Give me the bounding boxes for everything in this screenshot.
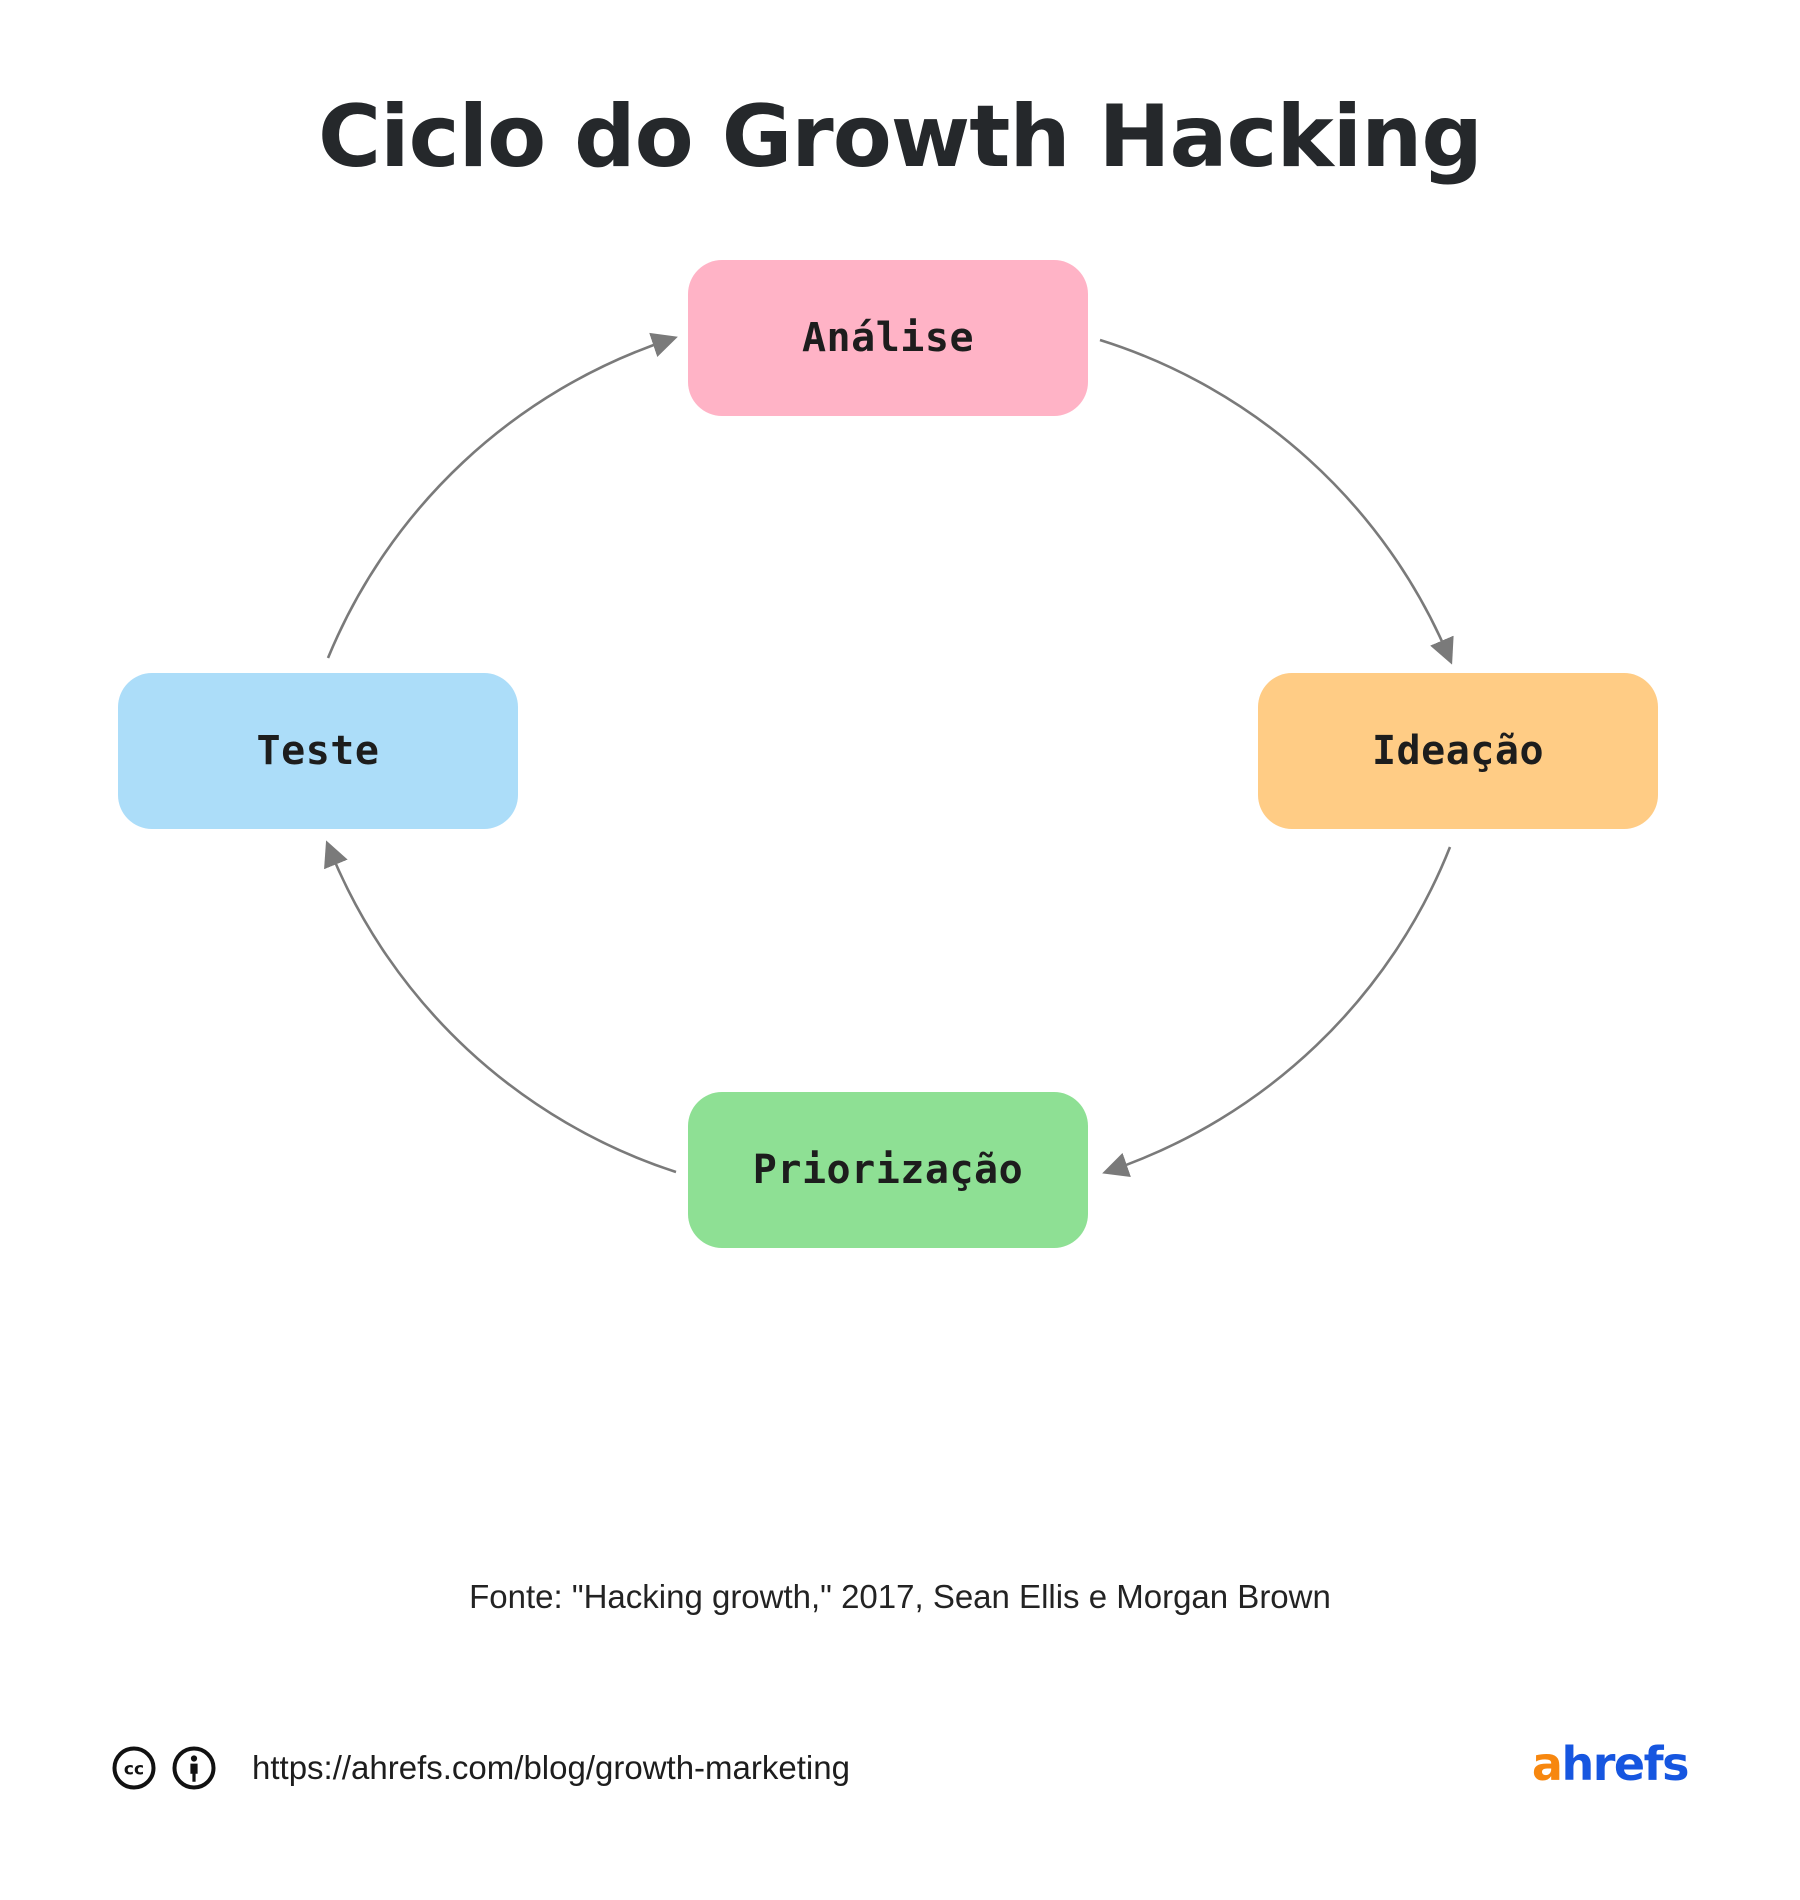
edge-ideacao-to-priorizacao	[1112, 847, 1450, 1170]
source-caption: Fonte: "Hacking growth," 2017, Sean Elli…	[0, 1578, 1800, 1616]
node-ideacao[interactable]: Ideação	[1258, 673, 1658, 829]
node-priorizacao-label: Priorização	[753, 1147, 1023, 1193]
node-analise-label: Análise	[802, 315, 974, 361]
node-analise[interactable]: Análise	[688, 260, 1088, 416]
svg-text:cc: cc	[124, 1760, 144, 1780]
node-ideacao-label: Ideação	[1372, 728, 1544, 774]
attribution-icon	[172, 1746, 216, 1790]
creative-commons-icon: cc	[112, 1746, 156, 1790]
ahrefs-logo[interactable]: ahrefs	[1532, 1731, 1688, 1797]
footer-url[interactable]: https://ahrefs.com/blog/growth-marketing	[252, 1749, 850, 1787]
infographic-canvas: Ciclo do Growth Hacking Análise Ideação	[0, 0, 1800, 1900]
footer: cc https://ahrefs.com/blog/growth-market…	[0, 1735, 1800, 1825]
node-teste-label: Teste	[257, 728, 380, 774]
ahrefs-logo-a: a	[1532, 1737, 1562, 1791]
edge-analise-to-ideacao	[1100, 340, 1448, 655]
node-teste[interactable]: Teste	[118, 673, 518, 829]
footer-left-group: cc https://ahrefs.com/blog/growth-market…	[112, 1735, 850, 1801]
edge-priorizacao-to-teste	[330, 850, 676, 1172]
page-title: Ciclo do Growth Hacking	[0, 92, 1800, 182]
license-badges: cc	[112, 1746, 216, 1790]
cycle-diagram: Análise Ideação Priorização Teste	[0, 230, 1800, 1520]
ahrefs-logo-rest: hrefs	[1561, 1737, 1688, 1791]
edge-teste-to-analise	[328, 340, 668, 658]
node-priorizacao[interactable]: Priorização	[688, 1092, 1088, 1248]
cycle-arrows	[0, 230, 1800, 1520]
